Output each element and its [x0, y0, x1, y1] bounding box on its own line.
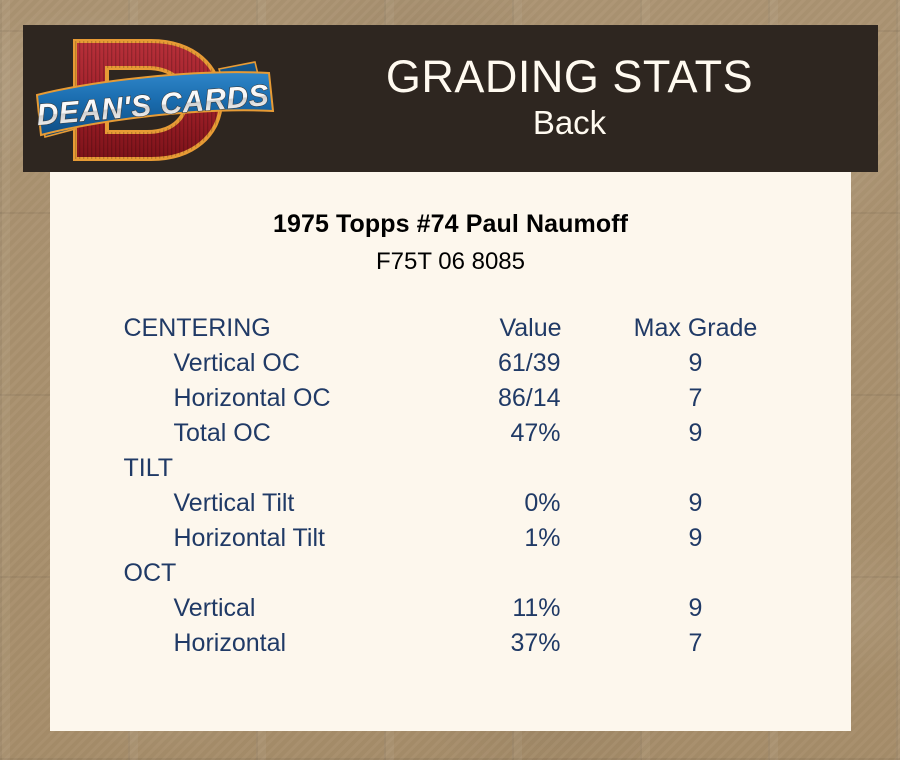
column-header-section: CENTERING — [121, 311, 451, 346]
content-panel: 1975 Topps #74 Paul Naumoff F75T 06 8085… — [50, 172, 851, 731]
row-max-grade: 7 — [611, 626, 781, 661]
deans-cards-logo: DEAN'S CARDS — [23, 25, 291, 172]
page-title: GRADING STATS — [291, 54, 848, 100]
row-value: 0% — [451, 486, 611, 521]
row-value: 1% — [451, 521, 611, 556]
table-row: Vertical Tilt0%9 — [121, 486, 781, 521]
row-label: Total OC — [121, 416, 451, 451]
card-code: F75T 06 8085 — [50, 248, 851, 276]
table-header-row: CENTERING Value Max Grade — [121, 311, 781, 346]
header-bar: DEAN'S CARDS GRADING STATS Back — [23, 25, 878, 172]
table-body: Vertical OC61/399Horizontal OC86/147Tota… — [121, 346, 781, 661]
table-head: CENTERING Value Max Grade — [121, 311, 781, 346]
table-row: Vertical11%9 — [121, 591, 781, 626]
row-label: Vertical Tilt — [121, 486, 451, 521]
row-label: Vertical — [121, 591, 451, 626]
row-max-grade: 9 — [611, 521, 781, 556]
row-max-grade: 7 — [611, 381, 781, 416]
header-titles: GRADING STATS Back — [291, 54, 878, 143]
row-label: Vertical OC — [121, 346, 451, 381]
section-header-row: OCT — [121, 556, 781, 591]
column-header-value: Value — [451, 311, 611, 346]
row-label: Horizontal Tilt — [121, 521, 451, 556]
table-row: Vertical OC61/399 — [121, 346, 781, 381]
row-value: 37% — [451, 626, 611, 661]
table-row: Horizontal OC86/147 — [121, 381, 781, 416]
row-value: 11% — [451, 591, 611, 626]
row-max-grade: 9 — [611, 486, 781, 521]
row-label: Horizontal OC — [121, 381, 451, 416]
row-max-grade: 9 — [611, 346, 781, 381]
section-header-label: TILT — [121, 451, 781, 486]
row-value: 47% — [451, 416, 611, 451]
page-subtitle: Back — [291, 102, 848, 143]
table-row: Total OC47%9 — [121, 416, 781, 451]
row-value: 61/39 — [451, 346, 611, 381]
card-title: 1975 Topps #74 Paul Naumoff — [50, 210, 851, 239]
column-header-max-grade: Max Grade — [611, 311, 781, 346]
table-row: Horizontal Tilt1%9 — [121, 521, 781, 556]
table-row: Horizontal37%7 — [121, 626, 781, 661]
section-header-label: OCT — [121, 556, 781, 591]
row-label: Horizontal — [121, 626, 451, 661]
row-value: 86/14 — [451, 381, 611, 416]
row-max-grade: 9 — [611, 416, 781, 451]
row-max-grade: 9 — [611, 591, 781, 626]
grading-stats-table: CENTERING Value Max Grade Vertical OC61/… — [121, 311, 781, 661]
section-header-row: TILT — [121, 451, 781, 486]
